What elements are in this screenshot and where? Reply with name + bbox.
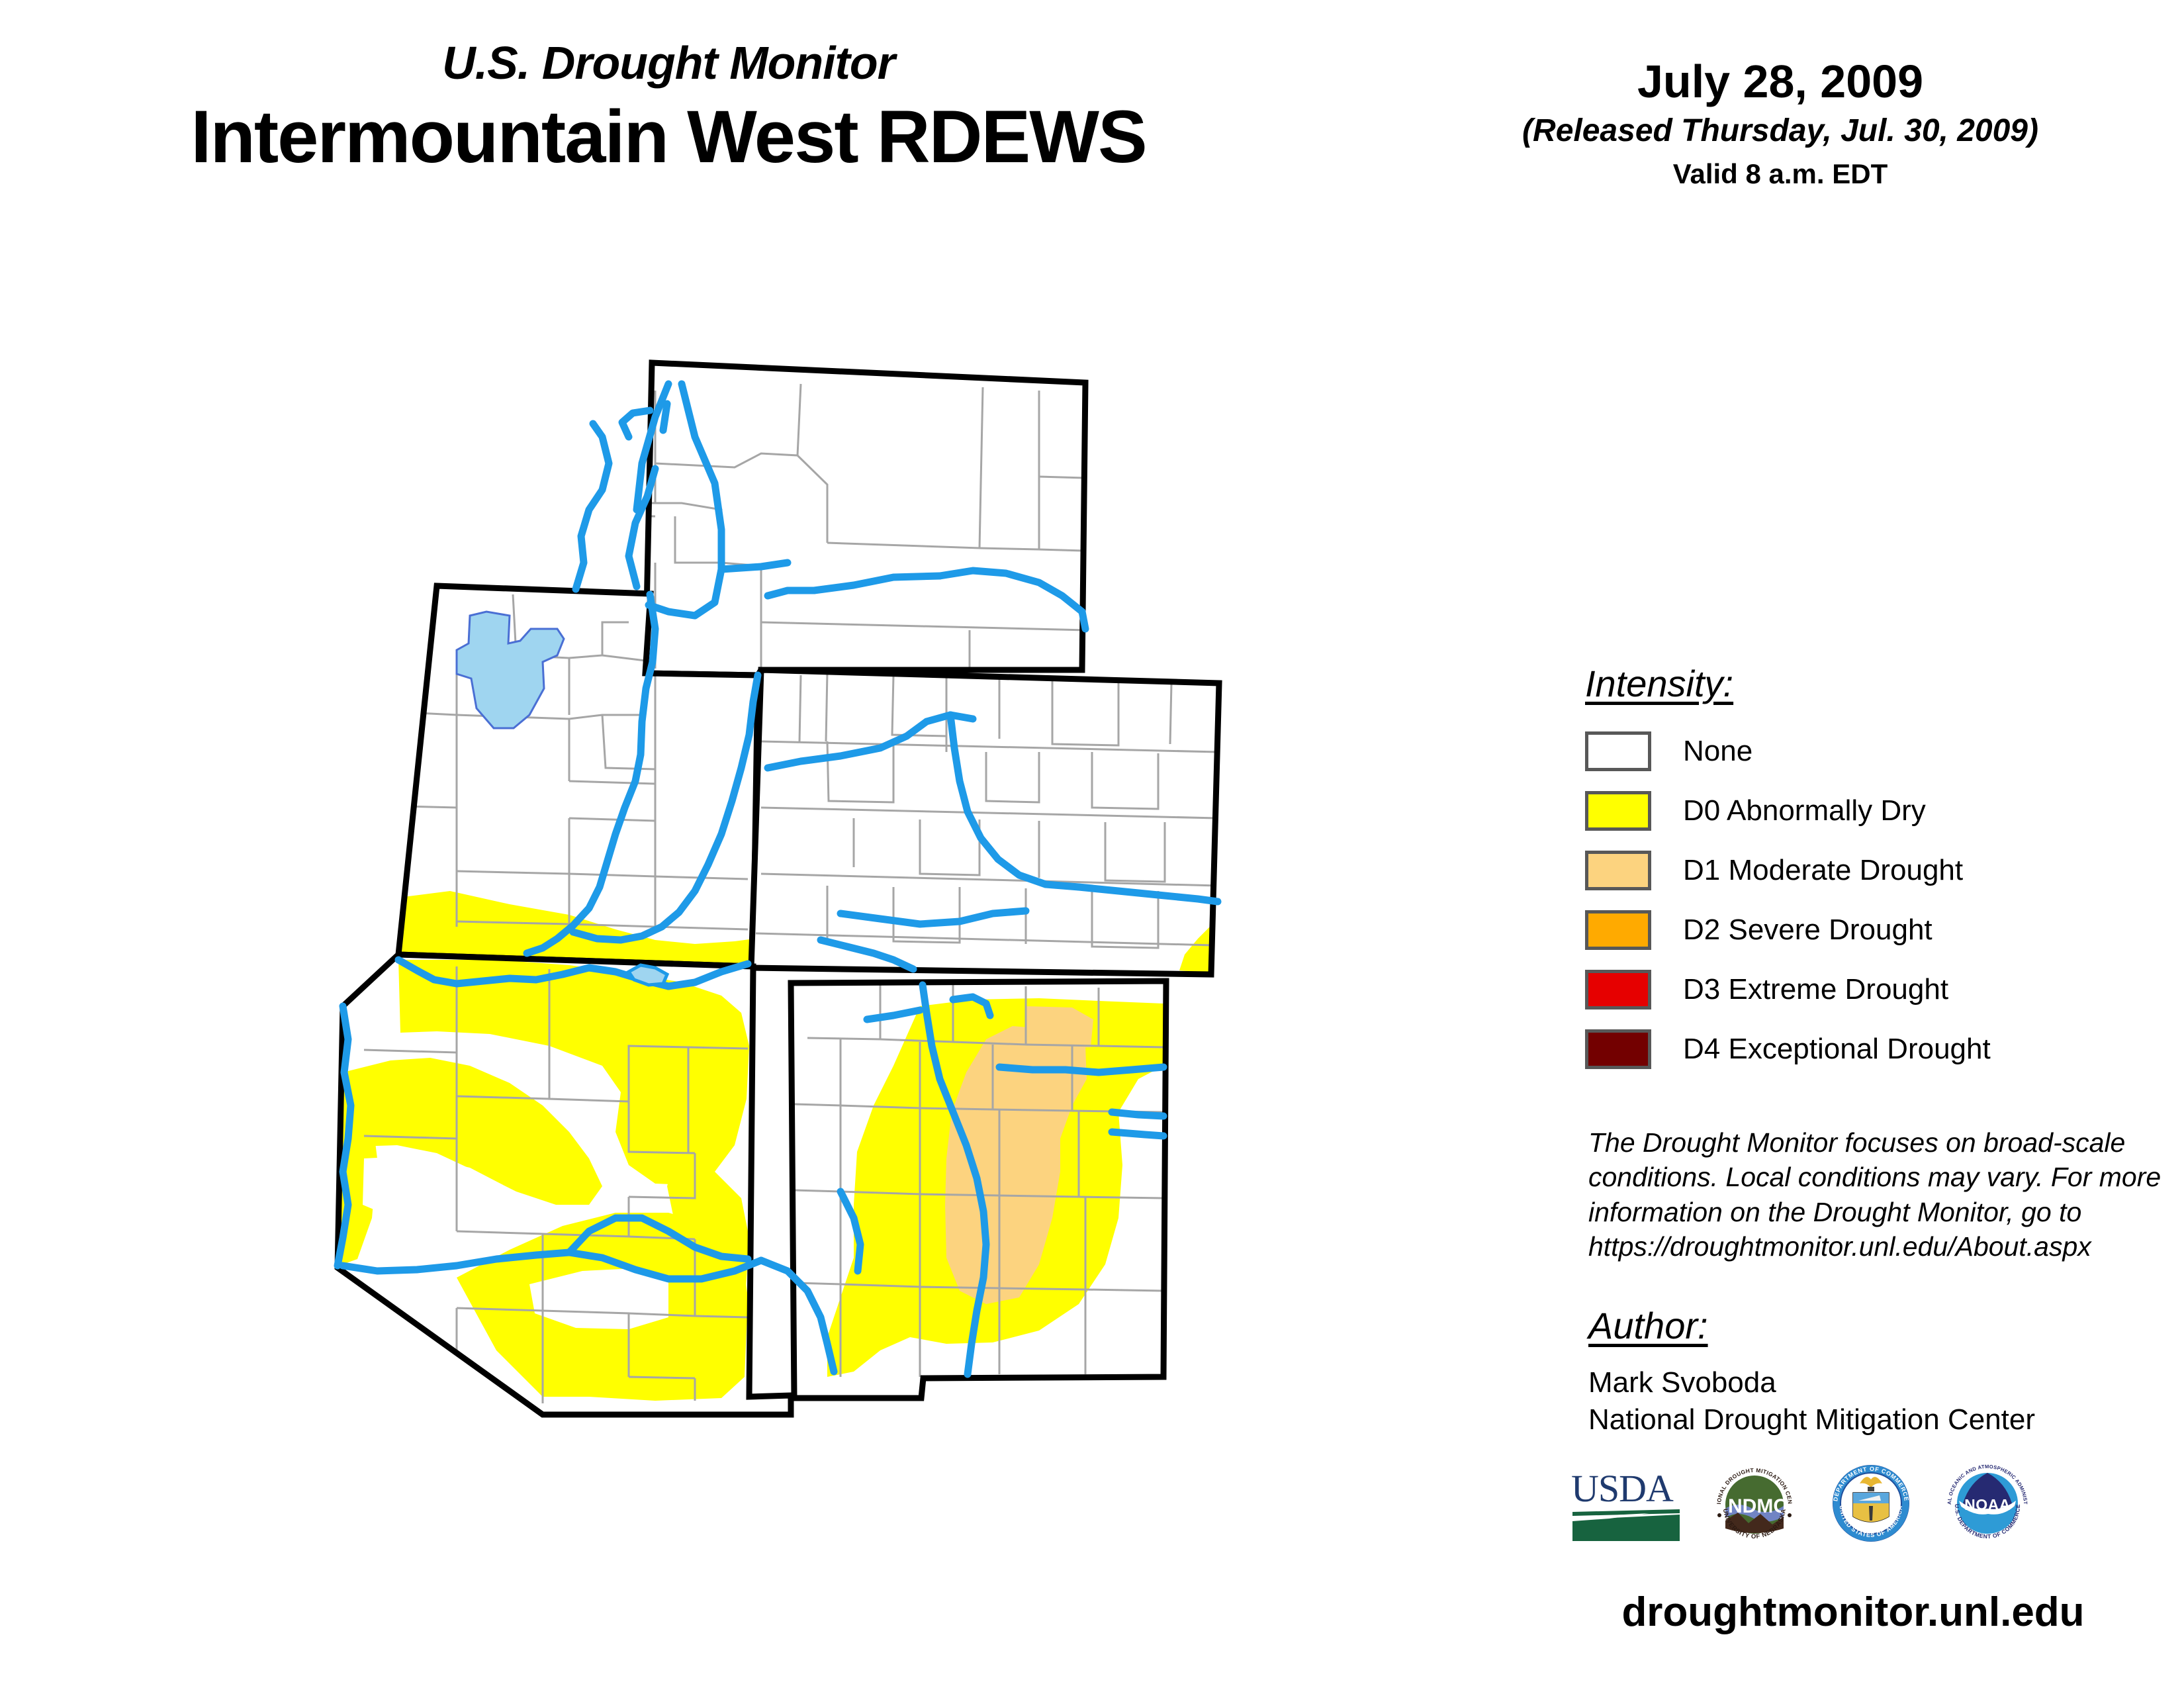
legend-heading: Intensity: <box>1585 665 1733 702</box>
legend-swatch-d3 <box>1585 970 1651 1009</box>
legend-item-d1[interactable]: D1 Moderate Drought <box>1585 844 2167 897</box>
legend-item-d0[interactable]: D0 Abnormally Dry <box>1585 784 2167 837</box>
legend-swatch-d4 <box>1585 1029 1651 1069</box>
map-svg <box>258 344 1377 1615</box>
legend-swatch-d0 <box>1585 791 1651 831</box>
svg-text:USDA: USDA <box>1571 1467 1674 1510</box>
legend-label-d0: D0 Abnormally Dry <box>1683 796 1926 825</box>
legend-label-d4: D4 Exceptional Drought <box>1683 1035 1991 1064</box>
header-left: U.S. Drought Monitor Intermountain West … <box>0 40 1337 176</box>
legend-item-d2[interactable]: D2 Severe Drought <box>1585 904 2167 957</box>
doc-logo: DEPARTMENT OF COMMERCE UNITED STATES OF … <box>1828 1460 1914 1546</box>
svg-text:NDMC: NDMC <box>1728 1495 1788 1517</box>
legend-label-d3: D3 Extreme Drought <box>1683 975 1948 1004</box>
svg-text:NOAA: NOAA <box>1964 1496 2011 1513</box>
noaa-logo: NOAA NATIONAL OCEANIC AND ATMOSPHERIC AD… <box>1944 1460 2030 1546</box>
drought-map[interactable] <box>258 344 1377 1615</box>
usda-logo: USDA <box>1570 1463 1681 1542</box>
author-affiliation: National Drought Mitigation Center <box>1588 1401 2184 1438</box>
author-name: Mark Svoboda <box>1588 1364 2184 1401</box>
page-title: Intermountain West RDEWS <box>0 98 1337 176</box>
legend-swatch-d1 <box>1585 851 1651 890</box>
author-block: Author: Mark Svoboda National Drought Mi… <box>1588 1307 2184 1439</box>
legend-swatch-none <box>1585 731 1651 771</box>
legend-panel: Intensity: None D0 Abnormally Dry D1 Mod… <box>1585 665 2167 1082</box>
legend-label-d1: D1 Moderate Drought <box>1683 856 1963 885</box>
legend-item-d4[interactable]: D4 Exceptional Drought <box>1585 1023 2167 1076</box>
legend-item-d3[interactable]: D3 Extreme Drought <box>1585 963 2167 1016</box>
legend-label-d2: D2 Severe Drought <box>1683 915 1933 945</box>
logo-strip: USDA NDMC NATIONAL DROUGHT MITIGATION CE… <box>1570 1443 2165 1562</box>
ndmc-logo: NDMC NATIONAL DROUGHT MITIGATION CENTER … <box>1711 1460 1797 1546</box>
disclaimer-text: The Drought Monitor focuses on broad-sca… <box>1588 1125 2177 1264</box>
legend-label-none: None <box>1683 737 1752 766</box>
map-date: July 28, 2009 <box>1430 58 2131 105</box>
site-url[interactable]: droughtmonitor.unl.edu <box>1535 1589 2171 1636</box>
state-colorado <box>751 670 1219 974</box>
valid-time: Valid 8 a.m. EDT <box>1430 160 2131 188</box>
author-heading: Author: <box>1588 1307 1708 1344</box>
header-right: July 28, 2009 (Released Thursday, Jul. 3… <box>1430 58 2131 188</box>
legend-item-none[interactable]: None <box>1585 725 2167 778</box>
release-date: (Released Thursday, Jul. 30, 2009) <box>1430 115 2131 147</box>
page-supertitle: U.S. Drought Monitor <box>0 40 1337 86</box>
state-arizona <box>338 955 791 1415</box>
legend-swatch-d2 <box>1585 910 1651 950</box>
